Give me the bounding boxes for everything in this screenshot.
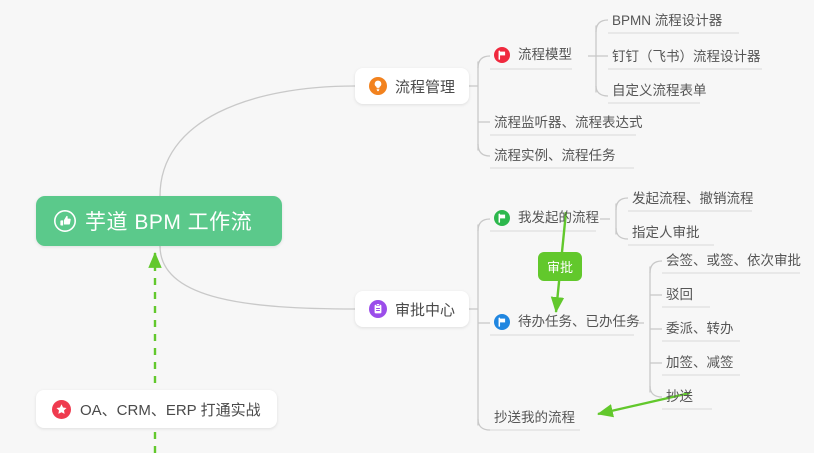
- corner-custom-form: [596, 86, 608, 96]
- mindmap-canvas: 芋道 BPM 工作流 流程管理 审批中心: [0, 0, 814, 453]
- leaf-add-remove-sign[interactable]: 加签、减签: [662, 352, 738, 377]
- leaf-process-model[interactable]: 流程模型: [490, 44, 576, 69]
- root-node[interactable]: 芋道 BPM 工作流: [36, 196, 282, 246]
- clipboard-icon: [369, 300, 387, 318]
- leaf-label-add-remove-sign: 加签、减签: [666, 355, 734, 370]
- root-label: 芋道 BPM 工作流: [85, 206, 252, 236]
- flag-icon: [494, 314, 510, 330]
- corner-process-model: [478, 56, 490, 68]
- leaf-custom-form[interactable]: 自定义流程表单: [608, 80, 711, 105]
- leaf-todo-tasks[interactable]: 待办任务、已办任务: [490, 311, 644, 336]
- branch-node-process-mgmt[interactable]: 流程管理: [355, 68, 469, 104]
- corner-countersign: [650, 261, 662, 273]
- flag-icon: [494, 47, 510, 63]
- link-root-to-approval-center: [160, 246, 355, 309]
- leaf-bpmn-designer[interactable]: BPMN 流程设计器: [608, 10, 726, 35]
- leaf-cc-my-processes[interactable]: 抄送我的流程: [490, 407, 579, 432]
- leaf-dingtalk-designer[interactable]: 钉钉（飞书）流程设计器: [608, 46, 765, 71]
- leaf-label-todo-tasks: 待办任务、已办任务: [518, 311, 640, 333]
- note-card-integration[interactable]: OA、CRM、ERP 打通实战: [36, 390, 277, 428]
- leaf-cc[interactable]: 抄送: [662, 386, 697, 411]
- corner-process-instance: [478, 144, 490, 156]
- leaf-label-my-processes: 我发起的流程: [518, 207, 599, 229]
- corner-start-process: [616, 198, 628, 210]
- corner-bpmn: [596, 20, 608, 32]
- leaf-process-instance[interactable]: 流程实例、流程任务: [490, 145, 620, 170]
- branch-label-process-mgmt: 流程管理: [395, 76, 455, 97]
- leaf-label-custom-form: 自定义流程表单: [612, 83, 707, 98]
- lightbulb-icon: [369, 77, 387, 95]
- leaf-label-assignee-approve: 指定人审批: [632, 225, 700, 240]
- leaf-delegate-transfer[interactable]: 委派、转办: [662, 318, 738, 343]
- leaf-process-listener[interactable]: 流程监听器、流程表达式: [490, 112, 647, 137]
- corner-my-processes: [478, 219, 490, 231]
- leaf-label-bpmn-designer: BPMN 流程设计器: [612, 13, 722, 28]
- leaf-start-cancel-process[interactable]: 发起流程、撤销流程: [628, 188, 758, 213]
- leaf-reject[interactable]: 驳回: [662, 284, 697, 309]
- corner-cc: [650, 386, 662, 397]
- leaf-label-countersign: 会签、或签、依次审批: [666, 253, 801, 268]
- branch-node-approval-center[interactable]: 审批中心: [355, 291, 469, 327]
- leaf-label-cc: 抄送: [666, 389, 693, 404]
- leaf-label-cc-my-processes: 抄送我的流程: [494, 410, 575, 425]
- link-root-to-process-mgmt: [160, 86, 355, 196]
- leaf-countersign[interactable]: 会签、或签、依次审批: [662, 250, 805, 275]
- leaf-label-reject: 驳回: [666, 287, 693, 302]
- leaf-label-start-cancel-process: 发起流程、撤销流程: [632, 191, 754, 206]
- thumbs-up-icon: [54, 210, 76, 232]
- leaf-assignee-approve[interactable]: 指定人审批: [628, 222, 704, 247]
- leaf-label-process-instance: 流程实例、流程任务: [494, 148, 616, 163]
- annotation-badge-label: 审批: [547, 260, 573, 275]
- corner-assignee-approve: [616, 228, 628, 239]
- leaf-label-process-listener: 流程监听器、流程表达式: [494, 115, 643, 130]
- leaf-label-dingtalk-designer: 钉钉（飞书）流程设计器: [612, 49, 761, 64]
- branch-label-approval-center: 审批中心: [395, 299, 455, 320]
- flag-icon: [494, 210, 510, 226]
- star-icon: [52, 400, 71, 419]
- corner-cc-my-processes: [478, 419, 490, 430]
- leaf-label-process-model: 流程模型: [518, 44, 572, 66]
- leaf-my-processes[interactable]: 我发起的流程: [490, 207, 603, 232]
- note-label-integration: OA、CRM、ERP 打通实战: [80, 399, 261, 420]
- leaf-label-delegate-transfer: 委派、转办: [666, 321, 734, 336]
- annotation-badge-approval: 审批: [538, 252, 582, 281]
